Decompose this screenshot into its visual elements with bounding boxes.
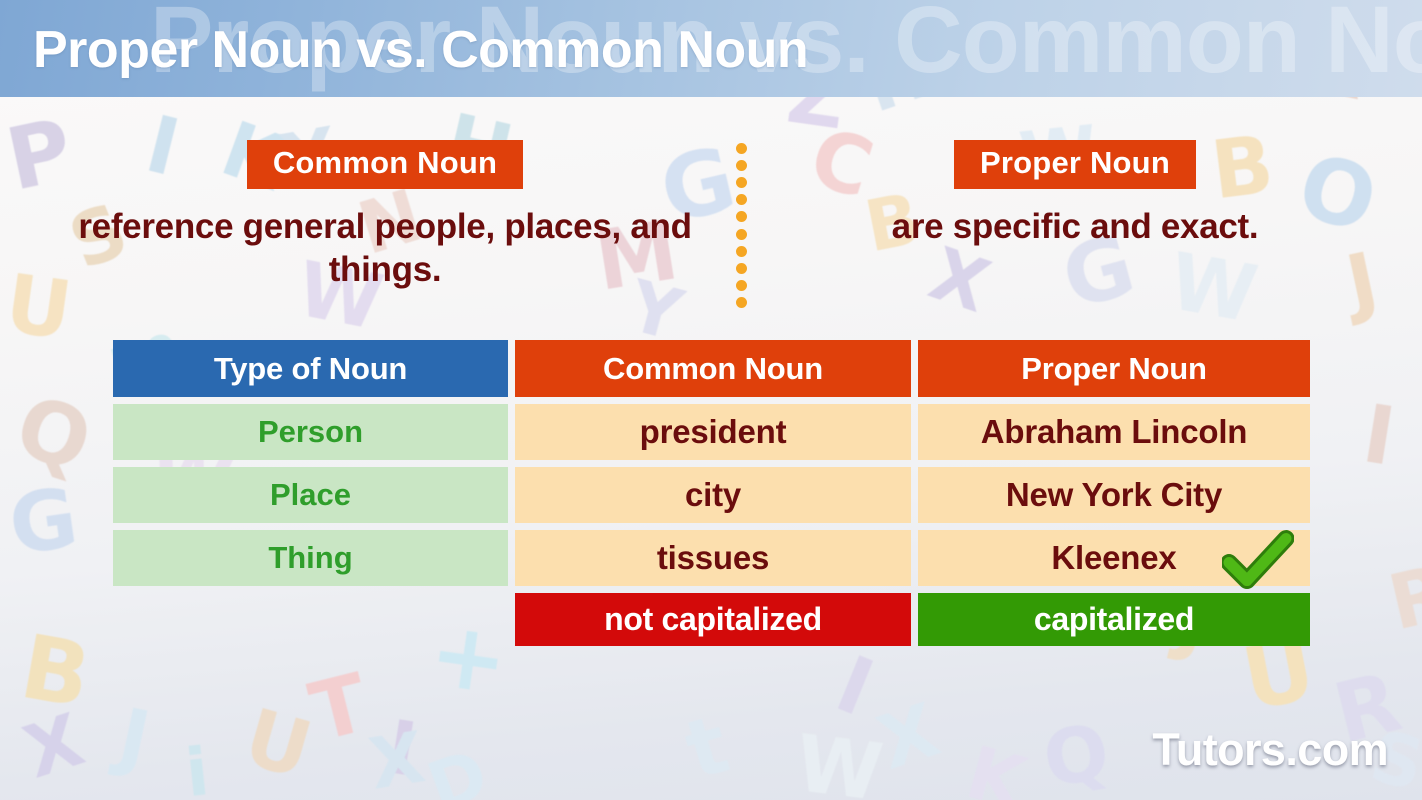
footer-cell-not-capitalized: not capitalized <box>515 593 911 646</box>
table-footer-row: not capitalized capitalized <box>113 593 1310 646</box>
background-letter: U <box>236 699 318 791</box>
cell-proper: Kleenex <box>918 530 1310 586</box>
divider-dot <box>736 143 747 154</box>
divider-dot <box>736 177 747 188</box>
background-letter: G <box>5 478 83 569</box>
cell-proper: Abraham Lincoln <box>918 404 1310 460</box>
page-title: Proper Noun vs. Common Noun <box>33 20 808 80</box>
cell-proper: New York City <box>918 467 1310 523</box>
definitions-section: Common Noun reference general people, pl… <box>0 140 1422 315</box>
background-letter: D <box>420 740 496 800</box>
common-noun-badge: Common Noun <box>247 140 523 189</box>
divider-dot <box>736 194 747 205</box>
cell-type: Thing <box>113 530 508 586</box>
slide-canvas: PISUmQGBXJiUTIDKYHNWMYGCBZHABOGWJXWIRSQK… <box>0 0 1422 800</box>
background-letter: B <box>15 623 96 721</box>
cell-common: president <box>515 404 911 460</box>
divider-dot <box>736 263 747 274</box>
common-noun-definition-block: Common Noun reference general people, pl… <box>60 140 710 291</box>
background-letter: t <box>678 704 737 791</box>
table-header-type-of-noun: Type of Noun <box>113 340 508 397</box>
background-letter: R <box>1382 554 1422 641</box>
table-header-proper-noun: Proper Noun <box>918 340 1310 397</box>
table-header-common-noun: Common Noun <box>515 340 911 397</box>
divider-dot <box>736 211 747 222</box>
cell-common: tissues <box>515 530 911 586</box>
footer-cell-capitalized: capitalized <box>918 593 1310 646</box>
background-letter: X <box>16 703 91 789</box>
divider-dot <box>736 229 747 240</box>
background-letter: I <box>1358 394 1400 478</box>
background-letter: I <box>382 710 421 787</box>
background-letter: W <box>792 725 887 800</box>
table-row: Thing tissues Kleenex <box>113 530 1310 586</box>
divider-dot <box>736 160 747 171</box>
tutors-logo: Tutors.com <box>1152 724 1388 776</box>
cell-type: Place <box>113 467 508 523</box>
background-letter: Q <box>7 383 101 485</box>
proper-noun-definition-block: Proper Noun are specific and exact. <box>745 140 1405 248</box>
table-header-row: Type of Noun Common Noun Proper Noun <box>113 340 1310 397</box>
proper-noun-badge: Proper Noun <box>954 140 1196 189</box>
title-bar: Proper Noun vs. Common Noun Proper Noun … <box>0 0 1422 97</box>
proper-noun-definition-text: are specific and exact. <box>745 205 1405 248</box>
background-letter: J <box>112 698 155 778</box>
common-noun-definition-text: reference general people, places, and th… <box>60 205 710 292</box>
background-letter: K <box>960 736 1033 800</box>
title-watermark-text-secondary: Proper Noun vs. Common Noun <box>520 84 1422 97</box>
background-letter: X <box>365 722 429 800</box>
divider-dot <box>736 297 747 308</box>
divider-dot <box>736 280 747 291</box>
cell-common: city <box>515 467 911 523</box>
background-letter: X <box>870 693 947 781</box>
table-row: Place city New York City <box>113 467 1310 523</box>
noun-comparison-table: Type of Noun Common Noun Proper Noun Per… <box>113 340 1310 653</box>
vertical-dotted-divider <box>736 143 747 308</box>
check-mark-icon <box>1222 529 1294 593</box>
background-letter: T <box>303 663 375 754</box>
footer-cell-empty <box>113 593 508 646</box>
cell-type: Person <box>113 404 508 460</box>
background-letter: i <box>183 739 212 800</box>
divider-dot <box>736 246 747 257</box>
table-row: Person president Abraham Lincoln <box>113 404 1310 460</box>
background-letter: I <box>826 645 882 728</box>
background-letter: Q <box>1038 713 1115 799</box>
